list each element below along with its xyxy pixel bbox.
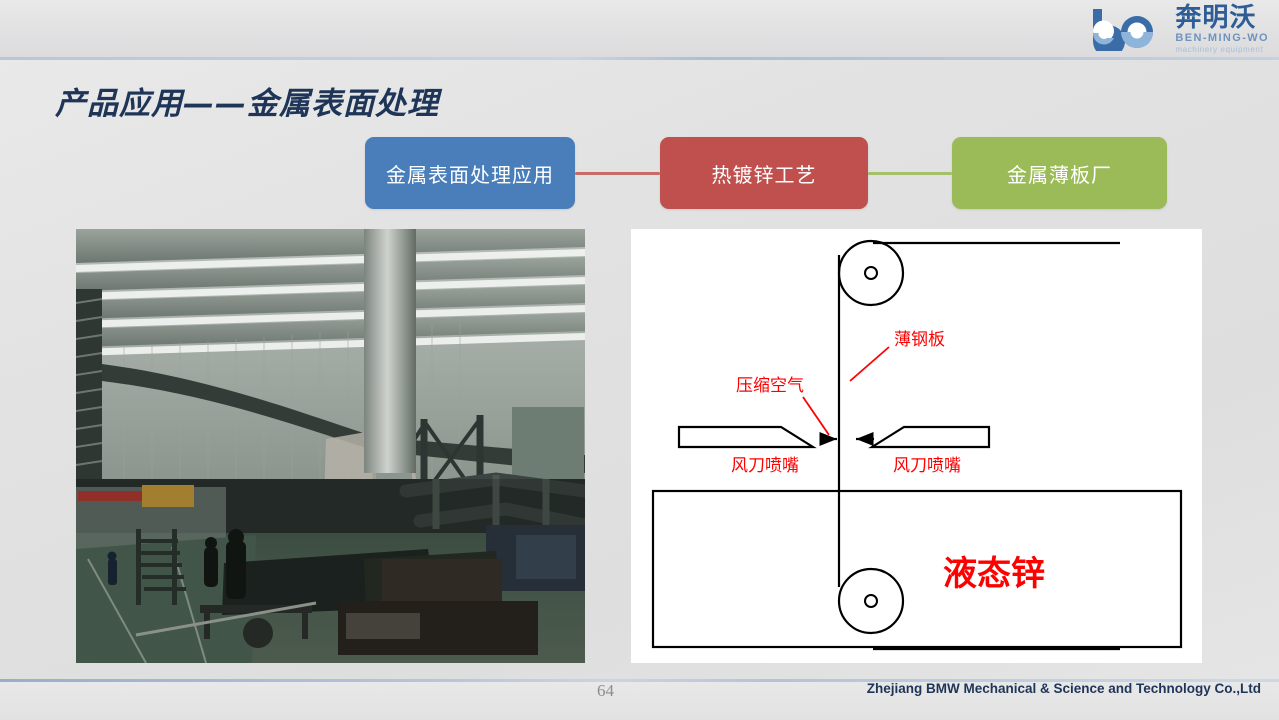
flow-box-hot-dip-galvanizing[interactable]: 热镀锌工艺 — [660, 137, 868, 209]
slide: 奔明沃 BEN-MING-WO machinery equipment 产品应用… — [0, 0, 1279, 720]
factory-photo — [76, 229, 585, 663]
logo-chinese-name: 奔明沃 — [1175, 5, 1256, 31]
label-air-knife-nozzle-right: 风刀喷嘴 — [893, 456, 961, 476]
page-number: 64 — [597, 681, 614, 701]
label-liquid-zinc: 液态锌 — [943, 554, 1045, 594]
flow-box-sheet-metal-plant[interactable]: 金属薄板厂 — [952, 137, 1167, 209]
logo-tagline: machinery equipment — [1175, 46, 1263, 54]
logo-english-name: BEN-MING-WO — [1175, 33, 1269, 44]
header-divider-rule — [0, 57, 1279, 60]
flow-box-metal-surface-treatment[interactable]: 金属表面处理应用 — [365, 137, 575, 209]
label-thin-steel-plate: 薄钢板 — [894, 330, 945, 350]
footer-company-name: Zhejiang BMW Mechanical & Science and Te… — [867, 681, 1261, 696]
connector-red-to-green — [868, 172, 952, 175]
bo-monogram-icon — [1087, 7, 1171, 51]
connector-blue-to-red — [575, 172, 660, 175]
page-title: 产品应用——金属表面处理 — [55, 78, 439, 123]
process-flow: 金属表面处理应用 热镀锌工艺 金属薄板厂 — [360, 137, 1170, 212]
galvanizing-schematic: 压缩空气 薄钢板 风刀喷嘴 风刀喷嘴 液态锌 — [631, 229, 1202, 663]
label-air-knife-nozzle-left: 风刀喷嘴 — [731, 456, 799, 476]
company-logo: 奔明沃 BEN-MING-WO machinery equipment — [1037, 2, 1269, 56]
label-compressed-air: 压缩空气 — [736, 376, 804, 396]
